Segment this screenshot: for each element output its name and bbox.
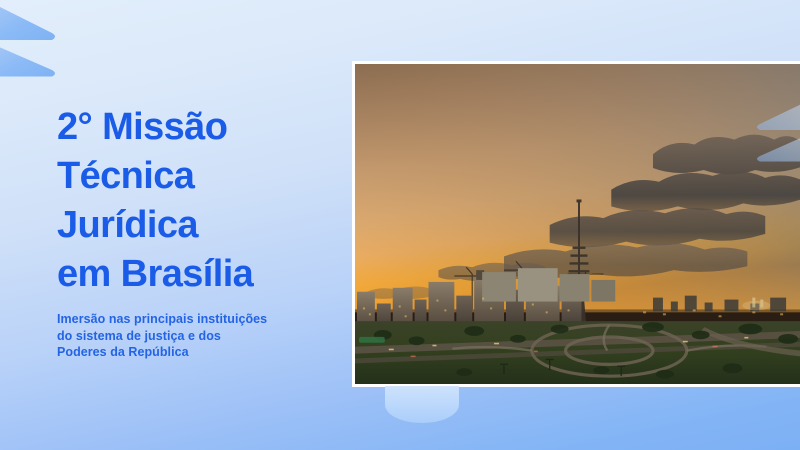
page-title: 2° Missão Técnica Jurídica em Brasília xyxy=(57,103,337,299)
brasilia-sunset-photo xyxy=(355,64,800,384)
photo-frame xyxy=(352,61,800,387)
page-subtitle: Imersão nas principais instituições do s… xyxy=(57,311,337,361)
photo-artwork xyxy=(355,64,800,384)
slide-canvas: 2° Missão Técnica Jurídica em Brasília I… xyxy=(0,0,800,450)
text-block: 2° Missão Técnica Jurídica em Brasília I… xyxy=(57,103,337,361)
semicircle-decoration xyxy=(385,386,459,423)
pennant-left-icon xyxy=(0,0,62,80)
